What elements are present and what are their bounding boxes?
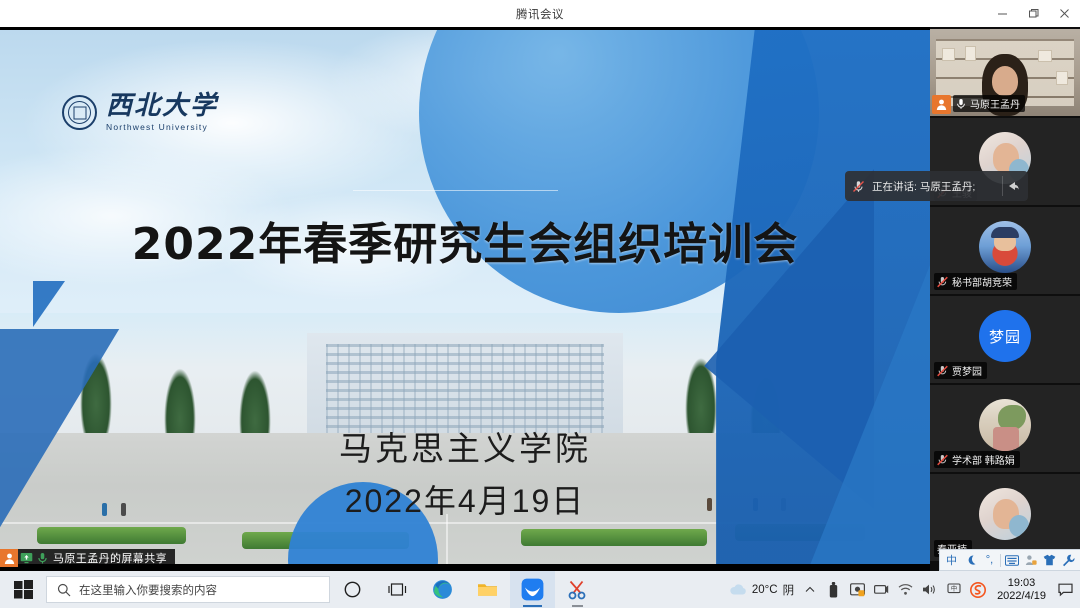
window-title: 腾讯会议 (516, 6, 564, 22)
tencent-meeting-window: 腾讯会议 (0, 0, 1080, 608)
sogou-ime-bar[interactable]: S 中 °, (939, 549, 1080, 571)
participant-name-bar: 贾梦园 (934, 362, 987, 379)
sogou-tray-icon[interactable] (969, 581, 986, 598)
slide-decor-line (353, 190, 558, 191)
mic-muted-icon (937, 276, 948, 288)
ime-halfwidth-icon[interactable]: °, (981, 551, 998, 569)
participant-avatar: 梦园 (979, 310, 1031, 362)
tencent-meeting-icon[interactable] (510, 571, 555, 608)
slide-subtitle: 马克思主义学院 (0, 422, 930, 470)
participant-avatar (979, 399, 1031, 451)
weather-temperature: 20°C (752, 584, 778, 596)
ime-separator (1000, 554, 1001, 567)
meeting-body: 西北大学 Northwest University 2022年春季研究生会组织培… (0, 27, 1080, 571)
participant-strip[interactable]: 马原王孟丹 王骏 (930, 27, 1080, 571)
microphone-icon (851, 179, 866, 194)
ime-settings-icon[interactable] (1060, 551, 1077, 569)
university-name-en: Northwest University (106, 122, 218, 132)
participant-tile[interactable]: 秘书部胡竞荣 (930, 207, 1080, 294)
avatar-initials: 梦园 (989, 326, 1021, 347)
ime-keyboard-icon[interactable] (1003, 551, 1020, 569)
window-controls (987, 0, 1080, 27)
mic-muted-icon (937, 454, 948, 466)
network-icon[interactable] (873, 581, 890, 598)
battery-icon[interactable] (825, 581, 842, 598)
speaking-text: 正在讲话: 马原王孟丹; (872, 179, 996, 194)
mic-muted-icon (937, 365, 948, 377)
speaking-notification[interactable]: 正在讲话: 马原王孟丹; (845, 171, 1028, 201)
participant-name: 学术部 韩路娟 (952, 452, 1015, 467)
search-icon (57, 583, 71, 597)
taskbar-clock[interactable]: 19:03 2022/4/19 (993, 577, 1050, 603)
screen-capture-icon[interactable] (555, 571, 600, 608)
university-logo: 西北大学 Northwest University (62, 93, 218, 132)
wifi-icon[interactable] (897, 581, 914, 598)
reply-arrow-icon[interactable] (1002, 176, 1022, 196)
screen-share-icon[interactable] (18, 549, 34, 567)
participant-tile[interactable]: 学术部 韩路娟 (930, 385, 1080, 472)
ime-lock-icon[interactable] (1022, 551, 1039, 569)
participant-name: 马原王孟丹 (970, 96, 1020, 111)
ime-skin-icon[interactable] (1041, 551, 1058, 569)
shelf-item (942, 48, 955, 61)
svg-text:中: 中 (950, 584, 957, 593)
screen-share-text: 马原王孟丹的屏幕共享 (53, 550, 167, 566)
shared-screen-stage[interactable]: 西北大学 Northwest University 2022年春季研究生会组织培… (0, 27, 930, 571)
mic-on-icon (956, 98, 966, 110)
weather-widget[interactable]: 20°C 阴 (729, 582, 794, 598)
participant-name-bar: 秘书部胡竞荣 (934, 273, 1017, 290)
input-indicator-icon[interactable]: 中 (945, 581, 962, 598)
host-badge-icon (932, 95, 951, 114)
ime-punctuation-icon[interactable] (962, 551, 979, 569)
volume-icon[interactable] (921, 581, 938, 598)
windows-start-icon[interactable] (0, 571, 46, 608)
university-seal-icon (62, 95, 97, 130)
search-input[interactable]: 在这里输入你要搜索的内容 (46, 576, 330, 603)
screenshot-icon[interactable] (849, 581, 866, 598)
participant-name-bar: 马原王孟丹 (953, 95, 1025, 112)
notification-icon[interactable] (1057, 581, 1074, 598)
cortana-circle-icon[interactable] (330, 571, 375, 608)
cloud-icon (729, 583, 747, 596)
chevron-up-icon[interactable] (801, 581, 818, 598)
campus-hedge (521, 529, 707, 546)
host-person-icon (0, 549, 18, 567)
windows-taskbar[interactable]: 在这里输入你要搜索的内容 (0, 571, 1080, 608)
slide-decor-triangle (33, 281, 65, 327)
system-tray[interactable]: 20°C 阴 中 (729, 571, 1080, 608)
participant-name: 贾梦园 (952, 363, 982, 378)
participant-avatar (979, 488, 1031, 540)
participant-tile[interactable]: 秦亚楠 (930, 474, 1080, 561)
slide-date: 2022年4月19日 (0, 476, 930, 522)
university-logo-text: 西北大学 Northwest University (106, 93, 218, 132)
clock-date: 2022/4/19 (997, 590, 1046, 603)
participant-name: 秘书部胡竞荣 (952, 274, 1012, 289)
screen-share-status-bar[interactable]: 马原王孟丹的屏幕共享 (0, 549, 175, 567)
ime-language-toggle[interactable]: 中 (943, 551, 960, 569)
weather-condition: 阴 (783, 582, 795, 598)
search-placeholder: 在这里输入你要搜索的内容 (79, 582, 217, 598)
title-bar[interactable]: 腾讯会议 (0, 0, 1080, 27)
participant-tile[interactable]: 马原王孟丹 (930, 29, 1080, 116)
presentation-slide: 西北大学 Northwest University 2022年春季研究生会组织培… (0, 30, 930, 564)
restore-button[interactable] (1018, 0, 1049, 27)
clock-time: 19:03 (997, 577, 1046, 590)
edge-browser-icon[interactable] (420, 571, 465, 608)
close-button[interactable] (1049, 0, 1080, 27)
participant-avatar (979, 221, 1031, 273)
campus-hedge (37, 527, 186, 544)
shelf-item (965, 46, 976, 61)
participant-name-bar: 学术部 韩路娟 (934, 451, 1020, 468)
task-view-icon[interactable] (375, 571, 420, 608)
slide-title: 2022年春季研究生会组织培训会 (0, 208, 930, 272)
minimize-button[interactable] (987, 0, 1018, 27)
shelf-item (1056, 71, 1068, 85)
university-name-cn: 西北大学 (106, 93, 218, 119)
file-explorer-icon[interactable] (465, 571, 510, 608)
participant-tile[interactable]: 梦园 贾梦园 (930, 296, 1080, 383)
microphone-icon[interactable] (34, 549, 50, 567)
shelf-item (1038, 50, 1052, 62)
